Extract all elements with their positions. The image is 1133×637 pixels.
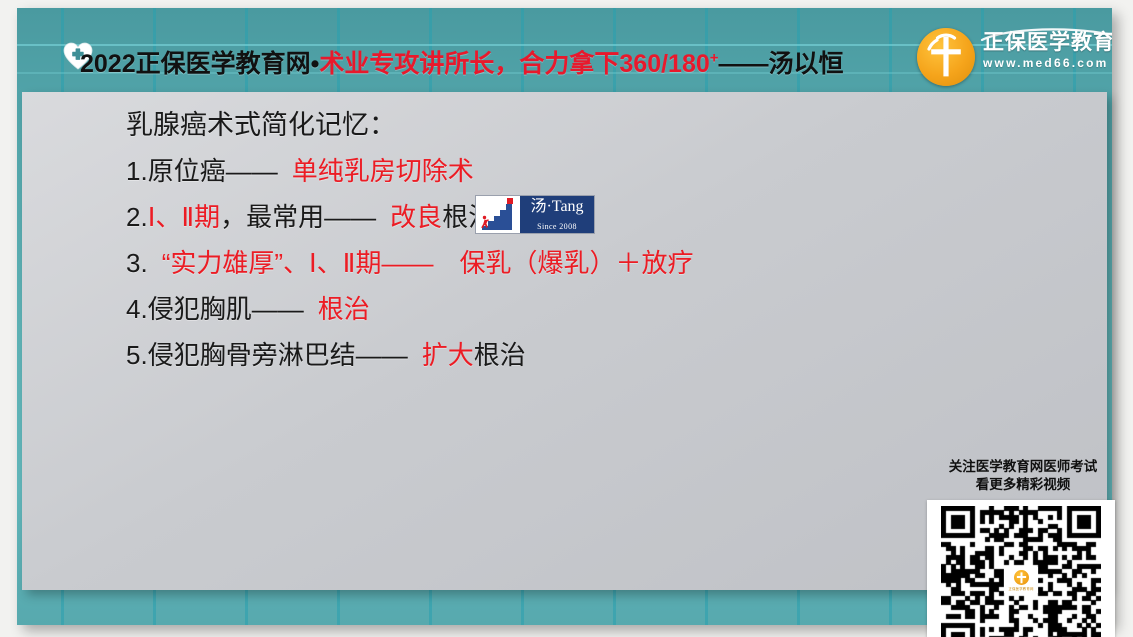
list-item-number: 2. xyxy=(126,202,148,232)
list-item-red-a: 扩大 xyxy=(422,340,474,370)
qr-center-logo-text: 正保医学教育网 xyxy=(1008,586,1033,591)
list-item-number: 3. xyxy=(126,248,148,278)
header-title: 2022正保医学教育网•术业专攻讲所长，合力拿下360/180+——汤以恒 xyxy=(80,44,844,80)
slide-root: 2022正保医学教育网•术业专攻讲所长，合力拿下360/180+——汤以恒 正保… xyxy=(0,0,1133,637)
list-item-red-a: 根治 xyxy=(318,294,370,324)
list-item-number: 5. xyxy=(126,340,148,370)
header-title-red: 术业专攻讲所长，合力拿下360/180 xyxy=(319,50,709,78)
qr-card: 正保医学教育网 xyxy=(927,500,1115,637)
brand-url: www.med66.com xyxy=(983,55,1112,72)
brand-logo: 正保医学教育网 www.med66.com xyxy=(913,22,1112,92)
tang-logo-text: 汤·Tang Since 2008 xyxy=(520,196,594,233)
list-item: 4.侵犯胸肌——根治 xyxy=(126,286,1026,332)
list-item: 5.侵犯胸骨旁淋巴结——扩大根治 xyxy=(126,332,1026,378)
tang-logo-since: Since 2008 xyxy=(520,222,594,231)
header-title-author: ——汤以恒 xyxy=(719,50,844,78)
tang-logo-name: 汤·Tang xyxy=(520,198,594,216)
qr-caption-line1: 关注医学教育网医师考试 xyxy=(927,458,1119,476)
list-item: 3.“实力雄厚”、Ⅰ、Ⅱ期—— 保乳（爆乳）＋放疗 xyxy=(126,240,1026,286)
qr-center-cross-icon xyxy=(1014,570,1029,585)
qr-center-logo: 正保医学教育网 xyxy=(1004,567,1038,593)
list-item-black-a: 侵犯胸肌—— xyxy=(148,294,304,324)
qr-caption-line2: 看更多精彩视频 xyxy=(927,476,1119,494)
content-heading: 乳腺癌术式简化记忆： xyxy=(126,102,1026,148)
slide-header: 2022正保医学教育网•术业专攻讲所长，合力拿下360/180+——汤以恒 正保… xyxy=(17,8,1112,92)
list-item-number: 4. xyxy=(126,294,148,324)
brand-text: 正保医学教育网 www.med66.com xyxy=(983,31,1112,72)
list-item: 1.原位癌——单纯乳房切除术 xyxy=(126,148,1026,194)
list-item-red-a: “实力雄厚”、Ⅰ、Ⅱ期—— 保乳（爆乳）＋放疗 xyxy=(162,248,694,278)
brand-name: 正保医学教育网 xyxy=(983,31,1112,55)
content-panel: 乳腺癌术式简化记忆： 1.原位癌——单纯乳房切除术 2.Ⅰ、Ⅱ期，最常用——改良… xyxy=(22,92,1107,590)
header-title-superscript: + xyxy=(710,50,719,67)
qr-block: 关注医学教育网医师考试 看更多精彩视频 正保医学教育网 xyxy=(927,458,1119,637)
list-item-red-b: 改良 xyxy=(390,202,442,232)
list-item-black-a: 原位癌—— xyxy=(148,156,278,186)
list-item-number: 1. xyxy=(126,156,148,186)
list-item-black-c: 根治 xyxy=(474,340,526,370)
list-item-red-a: Ⅰ、Ⅱ期 xyxy=(148,202,220,232)
content-text-block: 乳腺癌术式简化记忆： 1.原位癌——单纯乳房切除术 2.Ⅰ、Ⅱ期，最常用——改良… xyxy=(126,102,1026,378)
stairs-runner-icon xyxy=(476,196,520,233)
list-item-black-a: 侵犯胸骨旁淋巴结—— xyxy=(148,340,408,370)
list-item-black-b: ，最常用—— xyxy=(220,202,376,232)
tang-logo: 汤·Tang Since 2008 xyxy=(475,195,595,234)
list-item-red-a: 单纯乳房切除术 xyxy=(292,156,474,186)
header-title-year: 2022正保医学教育网 xyxy=(80,50,311,78)
cross-emblem-icon xyxy=(917,28,975,86)
